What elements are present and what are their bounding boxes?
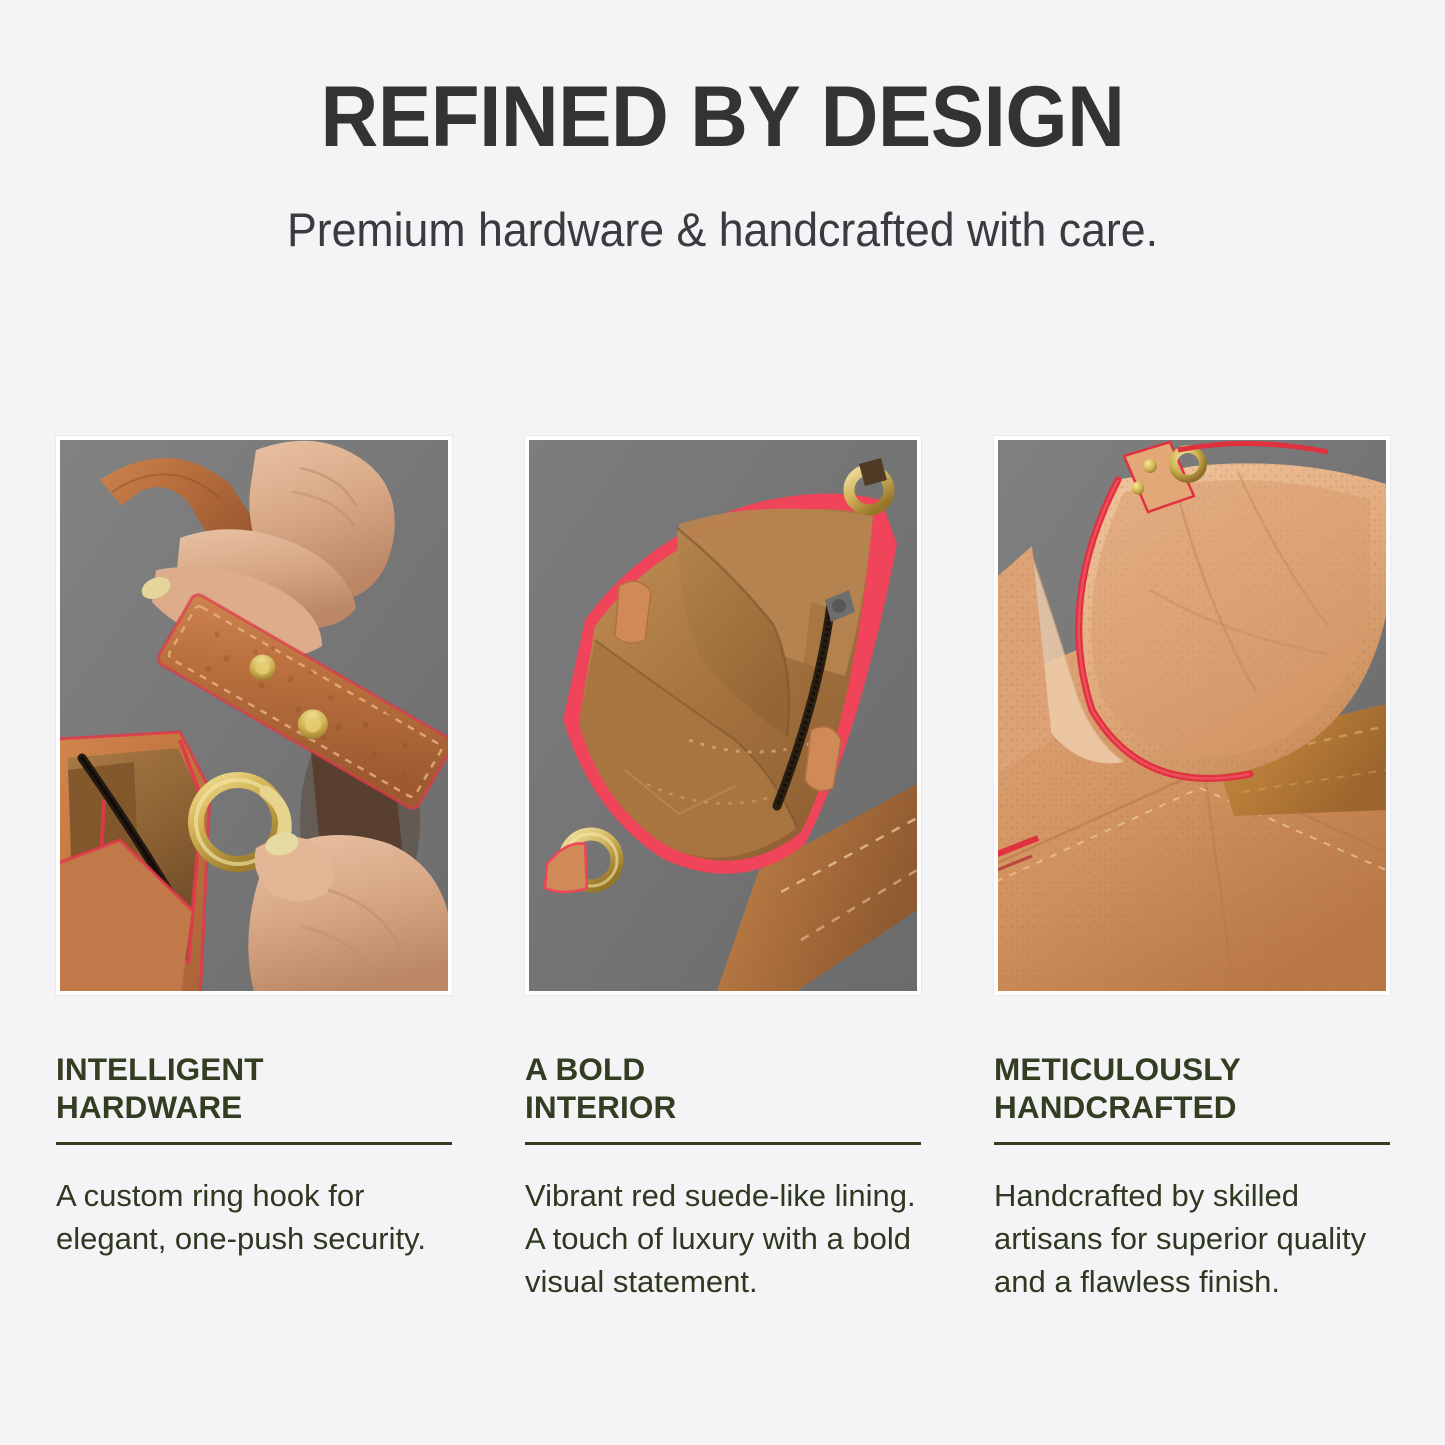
bag-interior-photo (525, 436, 921, 995)
leather-craftsmanship-illustration (998, 440, 1386, 991)
header: REFINED BY DESIGN Premium hardware & han… (0, 0, 1445, 256)
feature-heading: A BOLD INTERIOR (525, 1050, 921, 1126)
feature-columns: INTELLIGENT HARDWARE A custom ring hook … (56, 436, 1389, 1304)
page-title: REFINED BY DESIGN (51, 74, 1395, 160)
feature-column-interior: A BOLD INTERIOR Vibrant red suede-like l… (525, 436, 921, 1304)
ring-hook-attachment-photo (56, 436, 452, 995)
feature-column-handcrafted: METICULOUSLY HANDCRAFTED Handcrafted by … (994, 436, 1390, 1304)
page-subtitle: Premium hardware & handcrafted with care… (36, 204, 1409, 256)
leather-craftsmanship-photo (994, 436, 1390, 995)
heading-divider (994, 1142, 1390, 1145)
feature-heading: METICULOUSLY HANDCRAFTED (994, 1050, 1390, 1126)
feature-body: A custom ring hook for elegant, one-push… (56, 1175, 452, 1261)
feature-heading: INTELLIGENT HARDWARE (56, 1050, 452, 1126)
feature-column-hardware: INTELLIGENT HARDWARE A custom ring hook … (56, 436, 452, 1304)
heading-divider (56, 1142, 452, 1145)
marketing-page: REFINED BY DESIGN Premium hardware & han… (0, 0, 1445, 1445)
heading-divider (525, 1142, 921, 1145)
ring-hook-attachment-illustration (60, 440, 448, 991)
feature-body: Handcrafted by skilled artisans for supe… (994, 1175, 1390, 1303)
brass-rivet (1132, 482, 1145, 495)
bag-interior-illustration (529, 440, 917, 991)
brass-rivet (1143, 459, 1157, 473)
feature-body: Vibrant red suede-like lining. A touch o… (525, 1175, 921, 1303)
